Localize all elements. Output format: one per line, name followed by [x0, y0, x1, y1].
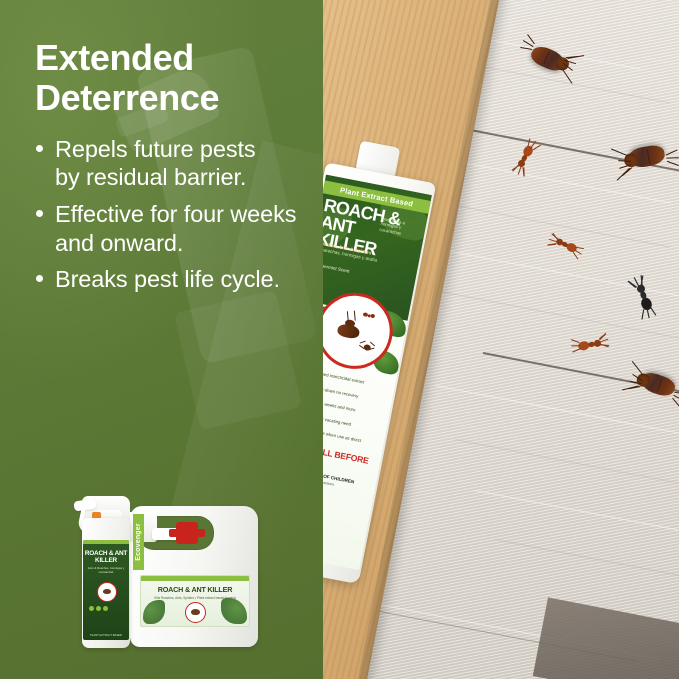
wood-grain	[455, 439, 679, 486]
ant	[577, 336, 605, 352]
feature-icon-row	[89, 606, 108, 611]
insect-leg	[533, 145, 541, 151]
cockroach-illustration	[336, 323, 360, 340]
wood-grain	[435, 385, 679, 436]
bullet-2-line-1: Effective for four weeks	[55, 201, 296, 227]
feature-text: Plant-based insecticidal extract	[323, 369, 365, 385]
headline-line-2: Deterrence	[35, 78, 310, 118]
insect-leg	[547, 244, 556, 246]
mint-leaf-icon	[143, 600, 165, 624]
insect-leg	[573, 252, 579, 260]
bullet-2-line-2: and onward.	[55, 229, 310, 258]
dark-floor-edge	[533, 597, 679, 679]
insect-leg	[650, 306, 657, 315]
spray-bottle-body: ROACH & ANT KILLER Ants & Roaches, hormi…	[82, 518, 130, 648]
cockroach-antenna	[632, 361, 643, 375]
insect-leg	[520, 47, 532, 50]
insect-leg	[666, 149, 678, 155]
headline-line-1: Extended	[35, 38, 310, 78]
spray-label-title: ROACH & ANT KILLER	[83, 551, 129, 564]
ant	[514, 144, 537, 173]
list-item: Effective for four weeks and onward.	[35, 200, 310, 257]
list-item: Breaks pest life cycle.	[35, 265, 310, 294]
spray-label-accent-bar	[83, 540, 129, 544]
insect-leg	[641, 309, 644, 319]
cockroach	[636, 369, 679, 401]
hose-end-sprayer-jug: Ecovenger ROACH & ANT KILLER Kills Roach…	[130, 506, 258, 647]
insect-leg	[666, 157, 679, 159]
insect-leg	[672, 398, 679, 408]
insect-leg	[523, 168, 525, 177]
insect-leg	[571, 339, 580, 343]
right-photo-panel: Plant Extract Based ROACH & ANT KILLER I…	[323, 0, 679, 679]
page-title: Extended Deterrence	[35, 38, 310, 119]
spray-label-footer: PLANT EXTRACT BASED	[83, 634, 129, 637]
pest-badge-icon	[97, 582, 117, 602]
feature-bullet-list: Plant-based insecticidal extract Fast kn…	[323, 364, 393, 455]
jug-red-knob	[176, 522, 198, 544]
spider-illustration	[358, 339, 376, 354]
jug-label: ROACH & ANT KILLER Kills Roaches, Ants, …	[140, 575, 250, 627]
ant	[631, 280, 654, 313]
insect-leg	[674, 392, 679, 394]
ant-illustration	[362, 311, 377, 320]
insect-leg	[667, 161, 679, 166]
bullet-3-line-1: Breaks pest life cycle.	[55, 266, 280, 292]
insect-leg	[572, 348, 581, 353]
cockroach-antenna	[611, 148, 628, 156]
wood-grain	[495, 539, 679, 582]
list-item: Repels future pests by residual barrier.	[35, 135, 310, 192]
bullet-1-line-2: by residual barrier.	[55, 163, 310, 192]
ghost-bottle-lower	[174, 290, 302, 430]
insect-leg	[600, 339, 609, 343]
spray-title-line-2: KILLER	[95, 557, 117, 564]
benefit-bullet-list: Repels future pests by residual barrier.…	[35, 135, 310, 294]
jug-label-accent-bar	[141, 576, 249, 581]
bullet-1-line-1: Repels future pests	[55, 136, 256, 162]
cockroach	[526, 41, 571, 76]
trigger-spray-bottle: ROACH & ANT KILLER Ants & Roaches, hormi…	[76, 478, 138, 648]
headline-copy-block: Extended Deterrence Repels future pests …	[35, 38, 310, 302]
mint-leaf-icon	[221, 598, 247, 624]
pest-badge-icon	[185, 602, 206, 623]
paw-icon	[103, 606, 108, 611]
ant	[551, 235, 578, 256]
spray-label-subtitle: Ants & Roaches, hormigas y cucarachas	[83, 566, 129, 574]
spray-bottle-label: ROACH & ANT KILLER Ants & Roaches, hormi…	[83, 540, 129, 640]
marketing-image: Extended Deterrence Repels future pests …	[0, 0, 679, 679]
bolt-icon	[96, 606, 101, 611]
product-lineup-group: Ecovenger ROACH & ANT KILLER Kills Roach…	[60, 478, 265, 658]
jug-label-title: ROACH & ANT KILLER	[141, 585, 249, 594]
wood-grain	[475, 490, 679, 535]
leaf-icon	[89, 606, 94, 611]
left-green-panel: Extended Deterrence Repels future pests …	[0, 0, 323, 679]
